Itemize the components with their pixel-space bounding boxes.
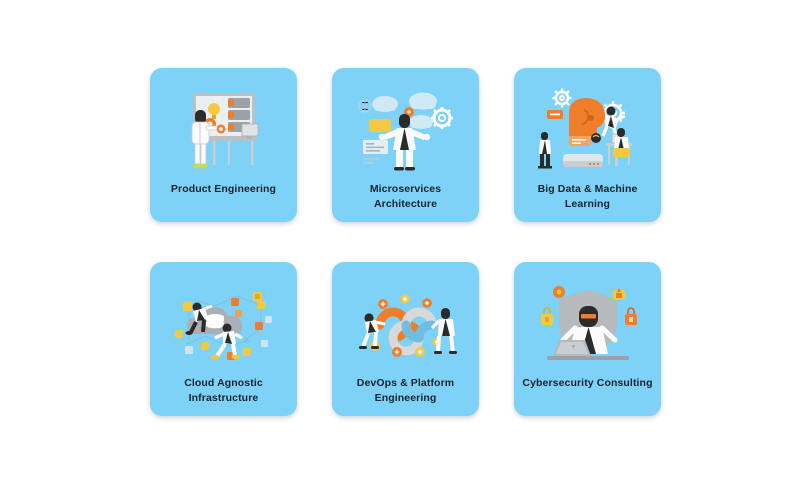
- service-card-big-data-machine-learning[interactable]: Big Data & Machine Learning: [514, 68, 661, 222]
- cybersecurity-consulting-illustration: [529, 282, 647, 368]
- service-card-grid: Product Engineering: [150, 68, 661, 416]
- service-card-cybersecurity-consulting[interactable]: Cybersecurity Consulting: [514, 262, 661, 416]
- cloud-agnostic-infrastructure-illustration: [165, 282, 283, 368]
- devops-platform-engineering-illustration: [347, 282, 465, 368]
- service-card-microservices-architecture[interactable]: Microservices Architecture: [332, 68, 479, 222]
- microservices-architecture-illustration: [347, 88, 465, 174]
- big-data-machine-learning-illustration: [529, 88, 647, 174]
- product-engineering-illustration: [165, 88, 283, 174]
- service-card-label: Big Data & Machine Learning: [522, 182, 654, 212]
- service-card-label: Product Engineering: [158, 182, 290, 197]
- service-card-product-engineering[interactable]: Product Engineering: [150, 68, 297, 222]
- service-card-devops-platform-engineering[interactable]: DevOps & Platform Engineering: [332, 262, 479, 416]
- service-card-label: Cybersecurity Consulting: [522, 376, 654, 391]
- service-card-label: Microservices Architecture: [340, 182, 472, 212]
- service-card-label: DevOps & Platform Engineering: [340, 376, 472, 406]
- service-card-cloud-agnostic-infrastructure[interactable]: Cloud Agnostic Infrastructure: [150, 262, 297, 416]
- service-card-label: Cloud Agnostic Infrastructure: [158, 376, 290, 406]
